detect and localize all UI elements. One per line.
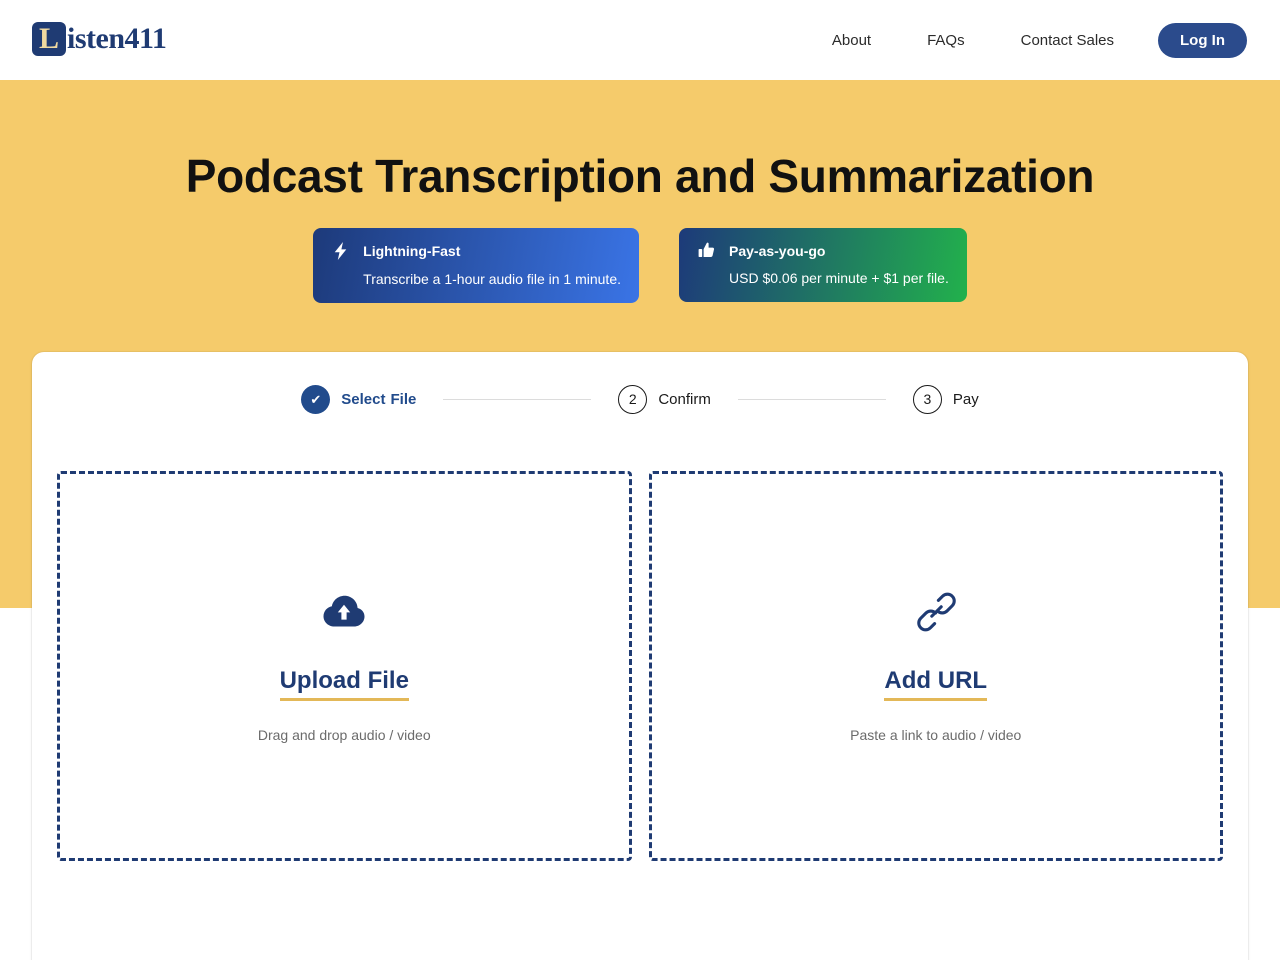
badge-heading-row: Pay-as-you-go: [697, 242, 949, 259]
nav-item-contact-sales[interactable]: Contact Sales: [993, 32, 1142, 49]
nav-item-about[interactable]: About: [804, 32, 899, 49]
upload-file-title: Upload File: [280, 668, 409, 701]
feature-badge-pay-as-you-go: Pay-as-you-go USD $0.06 per minute + $1 …: [679, 228, 967, 302]
step-2-label: Confirm: [658, 391, 711, 408]
logo[interactable]: L isten411: [32, 22, 166, 56]
thumbs-up-icon: [697, 242, 715, 259]
logo-badge-icon: L: [32, 22, 66, 56]
site-header: L isten411 About FAQs Contact Sales Log …: [0, 0, 1280, 80]
link-icon: [915, 589, 957, 635]
step-2-number: 2: [618, 385, 647, 414]
badge-title: Pay-as-you-go: [729, 243, 825, 259]
step-3-number: 3: [913, 385, 942, 414]
upload-card: ✔ SelectFile 2 Confirm 3 Pay: [32, 352, 1248, 960]
badge-subtitle: USD $0.06 per minute + $1 per file.: [729, 270, 949, 286]
step-pay[interactable]: 3 Pay: [913, 385, 979, 414]
add-url-dropzone[interactable]: Add URL Paste a link to audio / video: [649, 471, 1224, 861]
step-1-label-word2: File: [385, 391, 416, 408]
cloud-upload-icon: [323, 589, 365, 635]
badge-subtitle: Transcribe a 1-hour audio file in 1 minu…: [363, 271, 621, 287]
dropzone-row: Upload File Drag and drop audio / video …: [57, 471, 1223, 861]
logo-text: isten411: [67, 24, 166, 54]
step-select-file[interactable]: ✔ SelectFile: [301, 385, 416, 414]
page-title: Podcast Transcription and Summarization: [0, 149, 1280, 203]
log-in-button[interactable]: Log In: [1158, 23, 1247, 58]
page-root: L isten411 About FAQs Contact Sales Log …: [0, 0, 1280, 960]
lightning-bolt-icon: [331, 242, 349, 260]
feature-badge-lightning-fast: Lightning-Fast Transcribe a 1-hour audio…: [313, 228, 639, 303]
add-url-title: Add URL: [884, 668, 987, 701]
step-3-label: Pay: [953, 391, 979, 408]
hero-feature-badges: Lightning-Fast Transcribe a 1-hour audio…: [0, 228, 1280, 303]
step-1-label-word1: Select: [341, 391, 385, 408]
progress-stepper: ✔ SelectFile 2 Confirm 3 Pay: [32, 376, 1248, 422]
stepper-connector-1: [443, 399, 591, 400]
badge-title: Lightning-Fast: [363, 243, 460, 259]
step-confirm[interactable]: 2 Confirm: [618, 385, 711, 414]
main-nav: About FAQs Contact Sales Log In: [804, 0, 1247, 80]
upload-file-subtitle: Drag and drop audio / video: [258, 727, 431, 743]
stepper-connector-2: [738, 399, 886, 400]
badge-heading-row: Lightning-Fast: [331, 242, 621, 260]
nav-item-faqs[interactable]: FAQs: [899, 32, 993, 49]
step-1-label: SelectFile: [341, 391, 416, 408]
upload-file-dropzone[interactable]: Upload File Drag and drop audio / video: [57, 471, 632, 861]
add-url-subtitle: Paste a link to audio / video: [850, 727, 1021, 743]
step-1-check-icon: ✔: [301, 385, 330, 414]
